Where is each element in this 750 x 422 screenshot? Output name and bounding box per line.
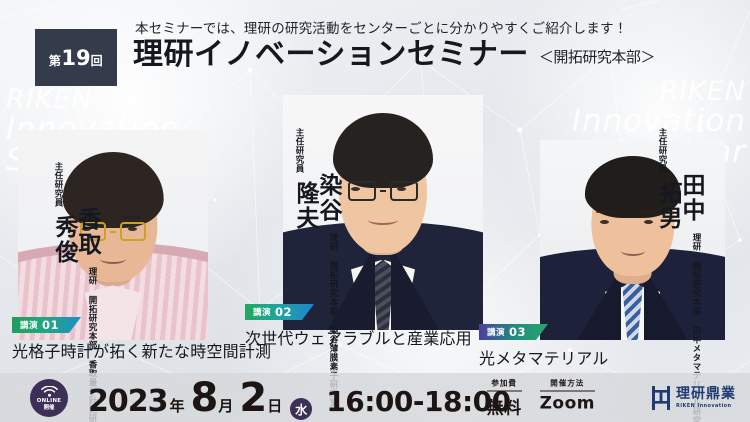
riken-logo-text: 理研鼎業 RIKEN Innovation xyxy=(676,387,736,409)
method-label: 開催方法 xyxy=(540,377,595,391)
event-day: 2 xyxy=(239,375,265,421)
event-day-unit: 日 xyxy=(267,395,282,416)
talk-badge-label-2: 講演 xyxy=(253,306,271,318)
speaker-family-name-3: 田中 xyxy=(679,173,702,231)
fee-value: 無料 xyxy=(487,393,522,418)
talk-badge-label-3: 講演 xyxy=(487,326,505,338)
wifi-icon xyxy=(41,386,58,397)
poster-footer: ONLINE 開催 2023 年 8 月 2 日 水 16:00-18:00 参… xyxy=(0,373,750,422)
speaker-position-1: 主任研究員 xyxy=(52,162,64,207)
talk-badge-3: 講演 03 xyxy=(479,324,548,340)
talk-badge-number-1: 01 xyxy=(42,318,59,332)
fee-item: 参加費 無料 xyxy=(487,377,522,418)
speaker-position-3: 主任研究員 xyxy=(656,128,668,173)
event-date-time: 2023 年 8 月 2 日 水 16:00-18:00 xyxy=(88,375,511,421)
talk-block-1: 講演 01 光格子時計が拓く新たな時空間計測 xyxy=(12,313,271,362)
title-division: ＜開拓研究本部＞ xyxy=(539,46,655,67)
event-year-unit: 年 xyxy=(170,395,185,416)
page-title: 理研イノベーションセミナー xyxy=(133,38,529,71)
event-time: 16:00-18:00 xyxy=(326,385,510,418)
speaker-position-2: 主任研究員 xyxy=(293,128,305,173)
talk-badge-number-3: 03 xyxy=(509,325,526,339)
issue-number-text: 第19回 xyxy=(49,46,103,70)
talk-badge-1: 講演 01 xyxy=(12,317,81,333)
poster-header: 第19回 本セミナーでは、理研の研究活動をセンターごとに分かりやすくご紹介します… xyxy=(0,0,750,92)
event-month: 8 xyxy=(191,375,217,421)
talk-title-3: 光メタマテリアル xyxy=(479,345,608,369)
riken-logo-en: RIKEN Innovation xyxy=(676,403,736,409)
event-year: 2023 xyxy=(88,384,168,419)
riken-innovation-logo: 理研鼎業 RIKEN Innovation xyxy=(651,385,736,411)
riken-logo-mark-icon xyxy=(651,385,671,411)
speaker-family-name-2: 染谷 xyxy=(316,173,339,231)
event-day-of-week: 水 xyxy=(290,398,312,420)
talk-badge-2: 講演 02 xyxy=(245,304,314,320)
talk-badge-number-2: 02 xyxy=(275,305,292,319)
speaker-given-name-2: 隆夫 xyxy=(293,181,316,231)
talk-block-3: 講演 03 光メタマテリアル xyxy=(479,320,608,369)
speaker-name-2: 染谷 隆夫 xyxy=(293,173,339,231)
event-month-unit: 月 xyxy=(218,395,233,416)
talk-block-2: 講演 02 次世代ウェアラブルと産業応用 xyxy=(245,300,472,349)
speaker-name-block-2: 主任研究員 染谷 隆夫 理研 開拓研究本部 染谷薄膜素子研究室 xyxy=(293,128,339,407)
speaker-given-name-1: 秀俊 xyxy=(52,215,75,265)
online-badge-sublabel: 開催 xyxy=(44,403,55,411)
fee-label: 参加費 xyxy=(487,377,522,391)
speaker-photo-1 xyxy=(18,130,208,340)
poster-subtitle: 本セミナーでは、理研の研究活動をセンターごとに分かりやすくご紹介します！ xyxy=(135,17,627,37)
issue-number-badge: 第19回 xyxy=(35,29,117,86)
method-value: Zoom xyxy=(540,393,595,413)
method-item: 開催方法 Zoom xyxy=(540,377,595,418)
poster-title-row: 理研イノベーションセミナー ＜開拓研究本部＞ xyxy=(133,38,655,71)
talk-title-2: 次世代ウェアラブルと産業応用 xyxy=(245,325,472,349)
talk-badge-label-1: 講演 xyxy=(20,319,38,331)
seminar-poster: RIKEN Innovation Seminar RIKEN Innovatio… xyxy=(0,0,750,422)
online-badge: ONLINE 開催 xyxy=(30,379,68,417)
riken-logo-jp: 理研鼎業 xyxy=(676,387,736,401)
talk-title-1: 光格子時計が拓く新たな時空間計測 xyxy=(12,338,271,362)
speaker-name-1: 香取 秀俊 xyxy=(52,207,98,265)
speaker-family-name-1: 香取 xyxy=(75,207,98,265)
speaker-name-3: 田中 拓男 xyxy=(656,173,702,231)
event-info-box: 参加費 無料 開催方法 Zoom xyxy=(487,377,595,418)
speaker-given-name-3: 拓男 xyxy=(656,181,679,231)
